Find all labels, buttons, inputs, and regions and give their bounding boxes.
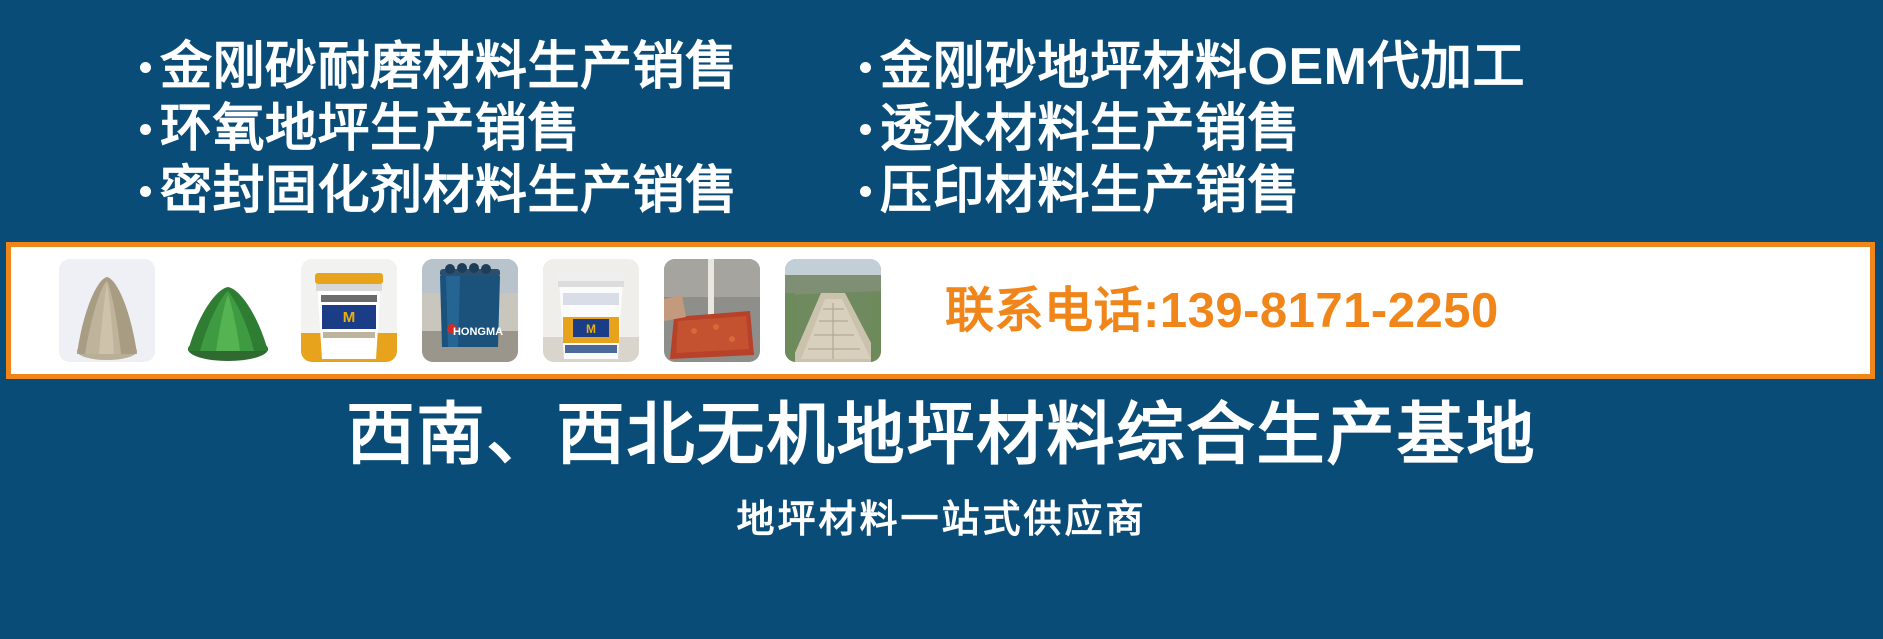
stamped-walkway-photo xyxy=(785,259,881,362)
feature-item: 密封固化剂材料生产销售 xyxy=(140,162,840,220)
main-headline: 西南、西北无机地坪材料综合生产基地 xyxy=(346,392,1536,478)
bullet-dot-icon xyxy=(860,186,871,197)
svg-text:M: M xyxy=(343,309,356,326)
footer-headline-block: 西南、西北无机地坪材料综合生产基地 地坪材料一站式供应商 xyxy=(0,380,1883,639)
feature-item: 环氧地坪生产销售 xyxy=(140,100,840,158)
bullet-dot-icon xyxy=(860,124,871,135)
green-powder-pile-photo xyxy=(180,259,276,362)
hongma-blue-drum-photo: HONGMA xyxy=(422,259,518,362)
svg-text:M: M xyxy=(586,322,596,336)
bullet-dot-icon xyxy=(860,62,871,73)
svg-text:HONGMA: HONGMA xyxy=(453,326,503,338)
contact-phone-label[interactable]: 联系电话:139-8171-2250 xyxy=(945,285,1499,337)
sealer-bucket-photo: M xyxy=(301,259,397,362)
feature-label: 金刚砂耐磨材料生产销售 xyxy=(160,38,738,96)
bullet-dot-icon xyxy=(140,186,151,197)
feature-item: 压印材料生产销售 xyxy=(860,162,1820,220)
product-strip: M HONGM xyxy=(6,242,1875,379)
feature-column-right: 金刚砂地坪材料OEM代加工 透水材料生产销售 压印材料生产销售 xyxy=(860,0,1820,224)
feature-item: 金刚砂地坪材料OEM代加工 xyxy=(860,38,1820,96)
feature-label: 环氧地坪生产销售 xyxy=(160,100,580,158)
feature-label: 金刚砂地坪材料OEM代加工 xyxy=(880,38,1525,96)
bullet-dot-icon xyxy=(140,62,151,73)
red-coating-application-photo xyxy=(664,259,760,362)
sub-headline: 地坪材料一站式供应商 xyxy=(736,496,1146,544)
promotional-banner: 金刚砂耐磨材料生产销售 环氧地坪生产销售 密封固化剂材料生产销售 金刚砂地坪材料… xyxy=(0,0,1883,639)
feature-lists: 金刚砂耐磨材料生产销售 环氧地坪生产销售 密封固化剂材料生产销售 金刚砂地坪材料… xyxy=(0,0,1883,238)
feature-item: 透水材料生产销售 xyxy=(860,100,1820,158)
feature-label: 压印材料生产销售 xyxy=(880,162,1300,220)
product-thumbnail-list: M HONGM xyxy=(59,259,881,362)
feature-label: 透水材料生产销售 xyxy=(880,100,1300,158)
feature-item: 金刚砂耐磨材料生产销售 xyxy=(140,38,840,96)
grey-powder-pile-photo xyxy=(59,259,155,362)
feature-column-left: 金刚砂耐磨材料生产销售 环氧地坪生产销售 密封固化剂材料生产销售 xyxy=(140,0,840,224)
feature-label: 密封固化剂材料生产销售 xyxy=(160,162,738,220)
bullet-dot-icon xyxy=(140,124,151,135)
epoxy-coating-bucket-photo: M xyxy=(543,259,639,362)
